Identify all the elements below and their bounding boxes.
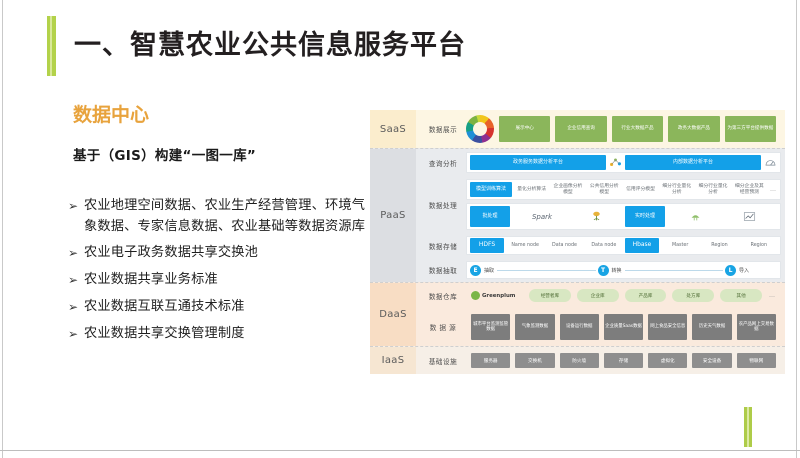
list-item-label: 农业数据共享交换管理制度 bbox=[84, 323, 245, 344]
blue-chip-batch[interactable]: 批处理 bbox=[470, 206, 510, 227]
list-item-label: 农业电子政务数据共享交换池 bbox=[84, 242, 258, 263]
source-chip[interactable]: 历史天气数据 bbox=[692, 314, 731, 340]
hadoop-icon bbox=[590, 210, 603, 223]
model-chip: 细分行业量化分析 bbox=[696, 184, 729, 196]
row-label: 数据展示 bbox=[420, 124, 466, 134]
infra-chip[interactable]: 交换机 bbox=[515, 353, 554, 368]
etl-letter-l: L bbox=[725, 265, 736, 276]
row-label: 数据存储 bbox=[420, 241, 466, 251]
model-chip: 企业画像分析模型 bbox=[551, 184, 584, 196]
row-label: 数据抽取 bbox=[420, 265, 466, 275]
etl-label: 导入 bbox=[739, 267, 749, 274]
layer-iaas: IaaS 基础设施 服务器 交换机 防火墙 存储 虚拟化 安全设备 物联网 bbox=[370, 346, 785, 374]
infra-chip[interactable]: 虚拟化 bbox=[648, 353, 687, 368]
infra-chip[interactable]: 物联网 bbox=[737, 353, 776, 368]
list-item-label: 农业数据共享业务标准 bbox=[84, 269, 218, 290]
storm-icon bbox=[689, 210, 702, 223]
frame-line-left bbox=[2, 0, 3, 458]
page-title: 一、智慧农业公共信息服务平台 bbox=[74, 23, 466, 62]
row-label: 数据仓库 bbox=[420, 291, 466, 301]
section-title: 数据中心 bbox=[73, 100, 149, 127]
bullet-marker-icon: ➢ bbox=[68, 323, 84, 345]
slide: 一、智慧农业公共信息服务平台 数据中心 基于（GIS）构建“一图一库” ➢ 农业… bbox=[0, 0, 800, 458]
layer-saas: SaaS 数据展示 展示中心 企业信用查询 行业大数据产品 政务大数据产品 为第… bbox=[370, 110, 785, 148]
etl-step-transform: T 转换 bbox=[598, 265, 724, 276]
row-data-storage: 数据存储 HDFS Name node Data node Data node … bbox=[416, 233, 785, 258]
blue-chip[interactable]: 政务服务数据分析平台 bbox=[470, 155, 606, 170]
model-chip: 信用评分模型 bbox=[624, 187, 657, 193]
hbase-chip[interactable]: Hbase bbox=[625, 238, 659, 253]
hdfs-node: Name node bbox=[507, 243, 543, 249]
warehouse-pill[interactable]: 企业库 bbox=[577, 289, 619, 302]
saas-chip[interactable]: 政务大数据产品 bbox=[668, 116, 719, 142]
row-data-processing: 数据处理 模型训练算法 量化分析算法 企业画像分析模型 公共信用分析模型 信用评… bbox=[416, 176, 785, 233]
architecture-diagram: SaaS 数据展示 展示中心 企业信用查询 行业大数据产品 政务大数据产品 为第… bbox=[370, 110, 785, 380]
blue-chip-model-training[interactable]: 模型训练算法 bbox=[470, 182, 512, 197]
source-chip[interactable]: 气象监测数据 bbox=[515, 314, 554, 340]
etl-step-load: L 导入 bbox=[725, 265, 777, 276]
row-data-warehouse: 数据仓库 Greenplum 经营者库 企业库 产品库 处方库 其他 … bbox=[416, 283, 785, 308]
list-item: ➢ 农业数据共享业务标准 bbox=[68, 269, 368, 291]
etl-letter-e: E bbox=[470, 265, 481, 276]
frame-line-bottom bbox=[0, 450, 800, 451]
list-item-label: 农业地理空间数据、农业生产经营管理、环境气象数据、专家信息数据、农业基础等数据资… bbox=[84, 195, 368, 237]
spark-icon: Spark bbox=[532, 213, 552, 221]
list-item-label: 农业数据互联互通技术标准 bbox=[84, 296, 245, 317]
row-query-analysis: 查询分析 政务服务数据分析平台 内部数据分析平台 bbox=[416, 149, 785, 176]
layer-label-iaas: IaaS bbox=[370, 347, 416, 374]
warehouse-pill[interactable]: 产品库 bbox=[625, 289, 667, 302]
infra-chip[interactable]: 服务器 bbox=[471, 353, 510, 368]
hdfs-node: Data node bbox=[546, 243, 582, 249]
greenplum-logo: Greenplum bbox=[471, 291, 523, 300]
blue-chip[interactable]: 内部数据分析平台 bbox=[625, 155, 761, 170]
infra-chip[interactable]: 安全设备 bbox=[692, 353, 731, 368]
row-data-display: 数据展示 展示中心 企业信用查询 行业大数据产品 政务大数据产品 为第三方平台提… bbox=[416, 110, 785, 148]
list-item: ➢ 农业数据共享交换管理制度 bbox=[68, 323, 368, 345]
layer-label-daas: DaaS bbox=[370, 283, 416, 346]
hdfs-chip[interactable]: HDFS bbox=[470, 238, 504, 253]
etl-flow: E 抽取 T 转换 L 导入 bbox=[470, 265, 777, 276]
source-chip[interactable]: 网上食品安全信息 bbox=[648, 314, 687, 340]
row-label: 数 据 源 bbox=[420, 322, 466, 332]
source-chip[interactable]: 城市平台监测监管数据 bbox=[471, 314, 510, 340]
etl-label: 转换 bbox=[612, 267, 622, 274]
bullet-marker-icon: ➢ bbox=[68, 195, 84, 217]
bullet-marker-icon: ➢ bbox=[68, 296, 84, 318]
row-data-sources: 数 据 源 城市平台监测监管数据 气象监测数据 设备运行数据 企业质量Saas数… bbox=[416, 308, 785, 346]
saas-chip[interactable]: 为第三方平台提供数据 bbox=[725, 116, 776, 142]
warehouse-pill[interactable]: 其他 bbox=[720, 289, 762, 302]
etl-label: 抽取 bbox=[484, 267, 494, 274]
saas-chip[interactable]: 企业信用查询 bbox=[555, 116, 606, 142]
hdfs-node: Data node bbox=[586, 243, 622, 249]
source-chip[interactable]: 设备运行数据 bbox=[560, 314, 599, 340]
list-item: ➢ 农业地理空间数据、农业生产经营管理、环境气象数据、专家信息数据、农业基础等数… bbox=[68, 195, 368, 237]
source-chip[interactable]: 企业质量Saas数据 bbox=[604, 314, 643, 340]
etl-step-extract: E 抽取 bbox=[470, 265, 596, 276]
model-chip: 量化分析算法 bbox=[515, 187, 548, 193]
section-subtitle: 基于（GIS）构建“一图一库” bbox=[73, 144, 256, 164]
dashboard-icon bbox=[764, 156, 777, 169]
warehouse-pill[interactable]: 经营者库 bbox=[529, 289, 571, 302]
layer-paas: PaaS 查询分析 政务服务数据分析平台 内部数据分析平台 bbox=[370, 148, 785, 282]
blue-chip-realtime[interactable]: 实时处理 bbox=[625, 206, 665, 227]
etl-connector bbox=[625, 270, 723, 271]
greenplum-icon bbox=[471, 291, 480, 300]
etl-letter-t: T bbox=[598, 265, 609, 276]
layer-daas: DaaS 数据仓库 Greenplum 经营者库 企业库 产品库 处方库 其他 bbox=[370, 282, 785, 346]
infra-chip[interactable]: 防火墙 bbox=[560, 353, 599, 368]
model-chip: 公共信用分析模型 bbox=[588, 184, 621, 196]
layer-label-paas: PaaS bbox=[370, 149, 416, 282]
hbase-node: Region bbox=[741, 243, 777, 249]
list-item: ➢ 农业电子政务数据共享交换池 bbox=[68, 242, 368, 264]
frame-line-right bbox=[796, 0, 797, 458]
model-chip: 细分行业量化分析 bbox=[660, 184, 693, 196]
title-accent-bar bbox=[47, 16, 56, 76]
hbase-node: Master bbox=[662, 243, 698, 249]
row-label: 数据处理 bbox=[420, 200, 466, 210]
warehouse-pill[interactable]: 处方库 bbox=[672, 289, 714, 302]
row-infrastructure: 基础设施 服务器 交换机 防火墙 存储 虚拟化 安全设备 物联网 bbox=[416, 347, 785, 374]
layer-label-saas: SaaS bbox=[370, 110, 416, 148]
kafka-icon bbox=[743, 210, 756, 223]
ellipsis-label: … bbox=[768, 292, 776, 299]
bullet-marker-icon: ➢ bbox=[68, 269, 84, 291]
etl-connector bbox=[497, 270, 595, 271]
ellipsis-label: … bbox=[769, 186, 777, 193]
bullet-marker-icon: ➢ bbox=[68, 242, 84, 264]
infra-chip[interactable]: 存储 bbox=[604, 353, 643, 368]
list-item: ➢ 农业数据互联互通技术标准 bbox=[68, 296, 368, 318]
row-data-extraction: 数据抽取 E 抽取 T 转换 bbox=[416, 258, 785, 282]
saas-chip[interactable]: 展示中心 bbox=[499, 116, 550, 142]
model-chip: 细分企业及其经营预测 bbox=[733, 184, 766, 196]
bullet-list: ➢ 农业地理空间数据、农业生产经营管理、环境气象数据、专家信息数据、农业基础等数… bbox=[68, 195, 368, 350]
saas-chip[interactable]: 行业大数据产品 bbox=[612, 116, 663, 142]
row-label: 查询分析 bbox=[420, 158, 466, 168]
pie-chart-icon bbox=[466, 115, 494, 143]
source-chip[interactable]: 农产品网上交易数据 bbox=[737, 314, 776, 340]
row-label: 基础设施 bbox=[420, 356, 466, 366]
hbase-node: Region bbox=[701, 243, 737, 249]
greenplum-label: Greenplum bbox=[482, 293, 515, 299]
network-graph-icon bbox=[609, 156, 622, 169]
bottom-accent-bar bbox=[744, 407, 752, 447]
